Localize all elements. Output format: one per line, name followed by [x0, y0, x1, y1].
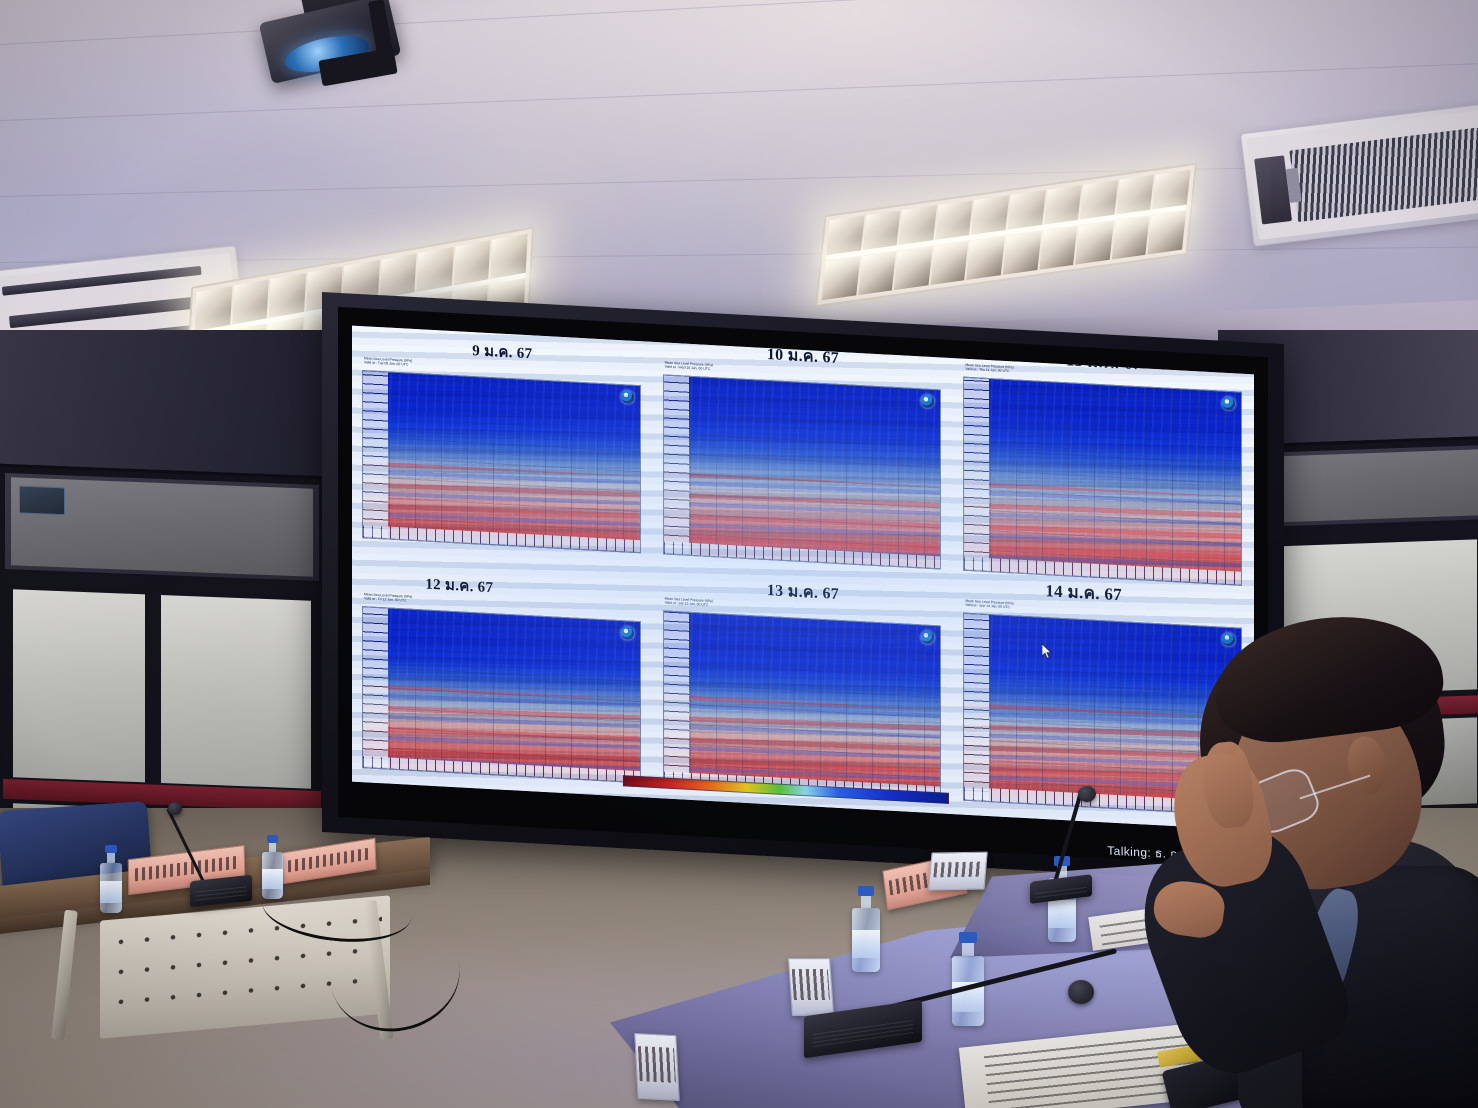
display-screen[interactable]: 9 ม.ค. 67 Mean Sea Level Pressure (hPa) …: [352, 326, 1254, 831]
bottle-cap: [858, 886, 874, 896]
nameplate-6: [634, 1033, 680, 1101]
microphone-base: [1030, 874, 1092, 904]
nameplate-4: [928, 852, 988, 891]
bottle-neck: [107, 853, 115, 863]
microphone-base: [804, 1000, 922, 1059]
conference-room-photo: 9 ม.ค. 67 Mean Sea Level Pressure (hPa) …: [0, 0, 1478, 1108]
bottle-neck: [861, 896, 871, 908]
microphone-base: [190, 875, 252, 908]
door-glass-pane-right: [161, 595, 311, 789]
nameplate-text: [638, 1046, 676, 1084]
microphone-vent: [1035, 884, 1087, 898]
ceiling-projector: [262, 0, 422, 102]
exit-sign-icon: [19, 486, 65, 516]
bottle-label: [1048, 900, 1076, 928]
microphone-capsule: [1078, 786, 1096, 802]
gooseneck-microphone[interactable]: [1022, 790, 1112, 900]
microphone-stem: [1052, 789, 1083, 886]
microphone-vent: [195, 886, 247, 900]
gooseneck-microphone[interactable]: [800, 930, 1100, 1050]
bottle-cap: [105, 845, 117, 853]
microphone-capsule: [1068, 980, 1094, 1004]
seated-attendee: [1152, 616, 1478, 1108]
water-bottle[interactable]: [100, 845, 122, 913]
camera-moire-overlay: [352, 326, 1254, 831]
partition-transom-glass: [1267, 449, 1478, 522]
microphone-capsule: [168, 802, 182, 815]
presentation-slide: 9 ม.ค. 67 Mean Sea Level Pressure (hPa) …: [352, 326, 1254, 831]
microphone-vent: [813, 1019, 912, 1047]
door-glass-pane-left: [13, 589, 145, 782]
nameplate-text: [933, 862, 983, 877]
video-wall-display[interactable]: 9 ม.ค. 67 Mean Sea Level Pressure (hPa) …: [322, 292, 1284, 884]
bottle-label: [100, 881, 122, 903]
